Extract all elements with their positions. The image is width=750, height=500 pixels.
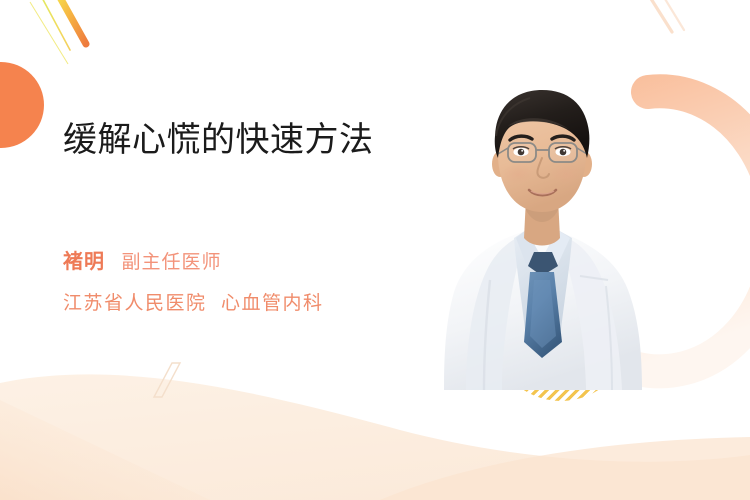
title-block: 缓解心慌的快速方法 bbox=[63, 118, 418, 162]
doctor-affiliation-block: 江苏省人民医院 心血管内科 bbox=[63, 288, 323, 315]
doctor-name: 褚明 bbox=[63, 251, 105, 273]
doctor-photo-block bbox=[430, 80, 680, 390]
doctor-portrait bbox=[430, 80, 680, 390]
accent-lines-top-left bbox=[40, 0, 86, 50]
doctor-professional-title: 副主任医师 bbox=[121, 252, 221, 273]
doctor-name-line: 褚明 副主任医师 bbox=[63, 247, 463, 279]
accent-lines-top-right bbox=[648, 0, 684, 32]
doctor-identity-block: 褚明 副主任医师 bbox=[63, 247, 463, 279]
page-title: 缓解心慌的快速方法 bbox=[63, 118, 418, 162]
department-name: 心血管内科 bbox=[221, 293, 324, 314]
hospital-name: 江苏省人民医院 bbox=[63, 293, 207, 314]
doctor-video-card: 缓解心慌的快速方法 褚明 副主任医师 江苏省人民医院 心血管内科 bbox=[0, 0, 750, 500]
